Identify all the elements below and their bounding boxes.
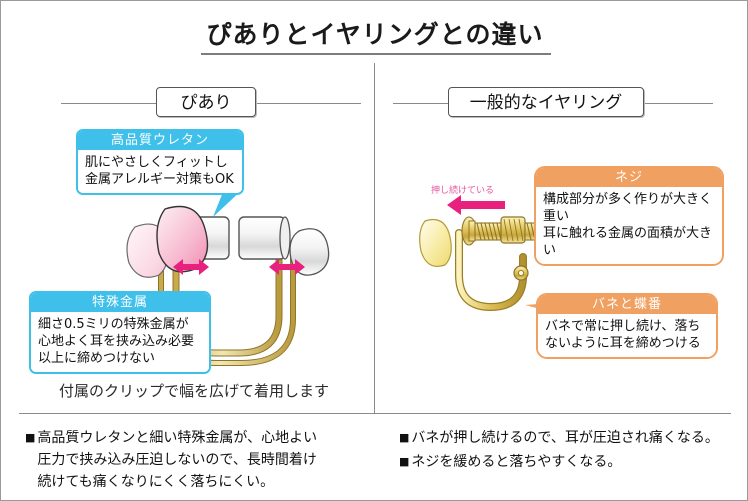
right-tube: [239, 217, 290, 259]
callout-urethane-heading: 高品質ウレタン: [78, 131, 242, 150]
bullet-marker: ■: [25, 427, 35, 449]
bullet-marker: ■: [399, 451, 409, 473]
bullet-text: 高品質ウレタンと細い特殊金属が、心地よい 圧力で挟み込み圧迫しないので、長時間着…: [37, 427, 370, 493]
earring-pad: [420, 220, 452, 267]
summary-left: ■ 高品質ウレタンと細い特殊金属が、心地よい 圧力で挟み込み圧迫しないので、長時…: [25, 427, 370, 495]
section-rule-left: [393, 103, 453, 104]
callout-spring-hinge: バネと蝶番 バネで常に押し続け、落ち ないように耳を締めつける: [536, 293, 718, 359]
list-item: ■ ネジを緩めると落ちやすくなる。: [399, 451, 739, 473]
page-title: ぴありとイヤリングとの違い: [1, 15, 748, 51]
callout-screw-body: 構成部分が多く作りが大きく重い 耳に触れる金属の面積が大きい: [536, 187, 722, 264]
list-item: ■ バネが押し続けるので、耳が圧迫され痛くなる。: [399, 427, 739, 449]
callout-urethane: 高品質ウレタン 肌にやさしくフィットし 金属アレルギー対策もOK: [76, 129, 244, 195]
bullet-text: バネが押し続けるので、耳が圧迫され痛くなる。: [411, 427, 739, 449]
callout-special-metal-body: 細さ0.5ミリの特殊金属が 心地よく耳を挟み込み必要 以上に締めつけない: [31, 312, 209, 372]
vertical-divider: [374, 63, 375, 413]
bullet-text: ネジを緩めると落ちやすくなる。: [411, 451, 739, 473]
pressing-label: 押し続けている: [431, 183, 494, 196]
infographic-page: ぴありとイヤリングとの違い ぴあり 一般的なイヤリング: [0, 0, 748, 501]
clip-caption: 付属のクリップで幅を広げて着用します: [19, 380, 369, 401]
callout-spring-hinge-body: バネで常に押し続け、落ち ないように耳を締めつける: [538, 314, 716, 357]
bullet-marker: ■: [399, 427, 409, 449]
callout-urethane-body: 肌にやさしくフィットし 金属アレルギー対策もOK: [78, 150, 242, 193]
spring-coil-left: [475, 223, 501, 240]
callout-special-metal-heading: 特殊金属: [31, 293, 209, 312]
callout-screw: ネジ 構成部分が多く作りが大きく重い 耳に触れる金属の面積が大きい: [534, 166, 724, 266]
section-label-earring: 一般的なイヤリング: [448, 87, 644, 117]
section-header-right: 一般的なイヤリング: [393, 87, 713, 119]
title-underline: [201, 53, 551, 55]
section-label-piari: ぴあり: [156, 87, 256, 117]
callout-screw-heading: ネジ: [536, 168, 722, 187]
section-header-left: ぴあり: [61, 87, 361, 119]
horizontal-divider: [19, 413, 731, 414]
section-rule-right: [256, 103, 361, 104]
callout-special-metal: 特殊金属 細さ0.5ミリの特殊金属が 心地よく耳を挟み込み必要 以上に締めつけな…: [29, 291, 211, 374]
callout-spring-hinge-heading: バネと蝶番: [538, 295, 716, 314]
summary-right: ■ バネが押し続けるので、耳が圧迫され痛くなる。 ■ ネジを緩めると落ちやすくな…: [399, 427, 739, 475]
section-rule-left: [61, 103, 161, 104]
section-rule-right: [643, 103, 713, 104]
list-item: ■ 高品質ウレタンと細い特殊金属が、心地よい 圧力で挟み込み圧迫しないので、長時…: [25, 427, 370, 493]
pressing-arrow: [447, 195, 505, 215]
